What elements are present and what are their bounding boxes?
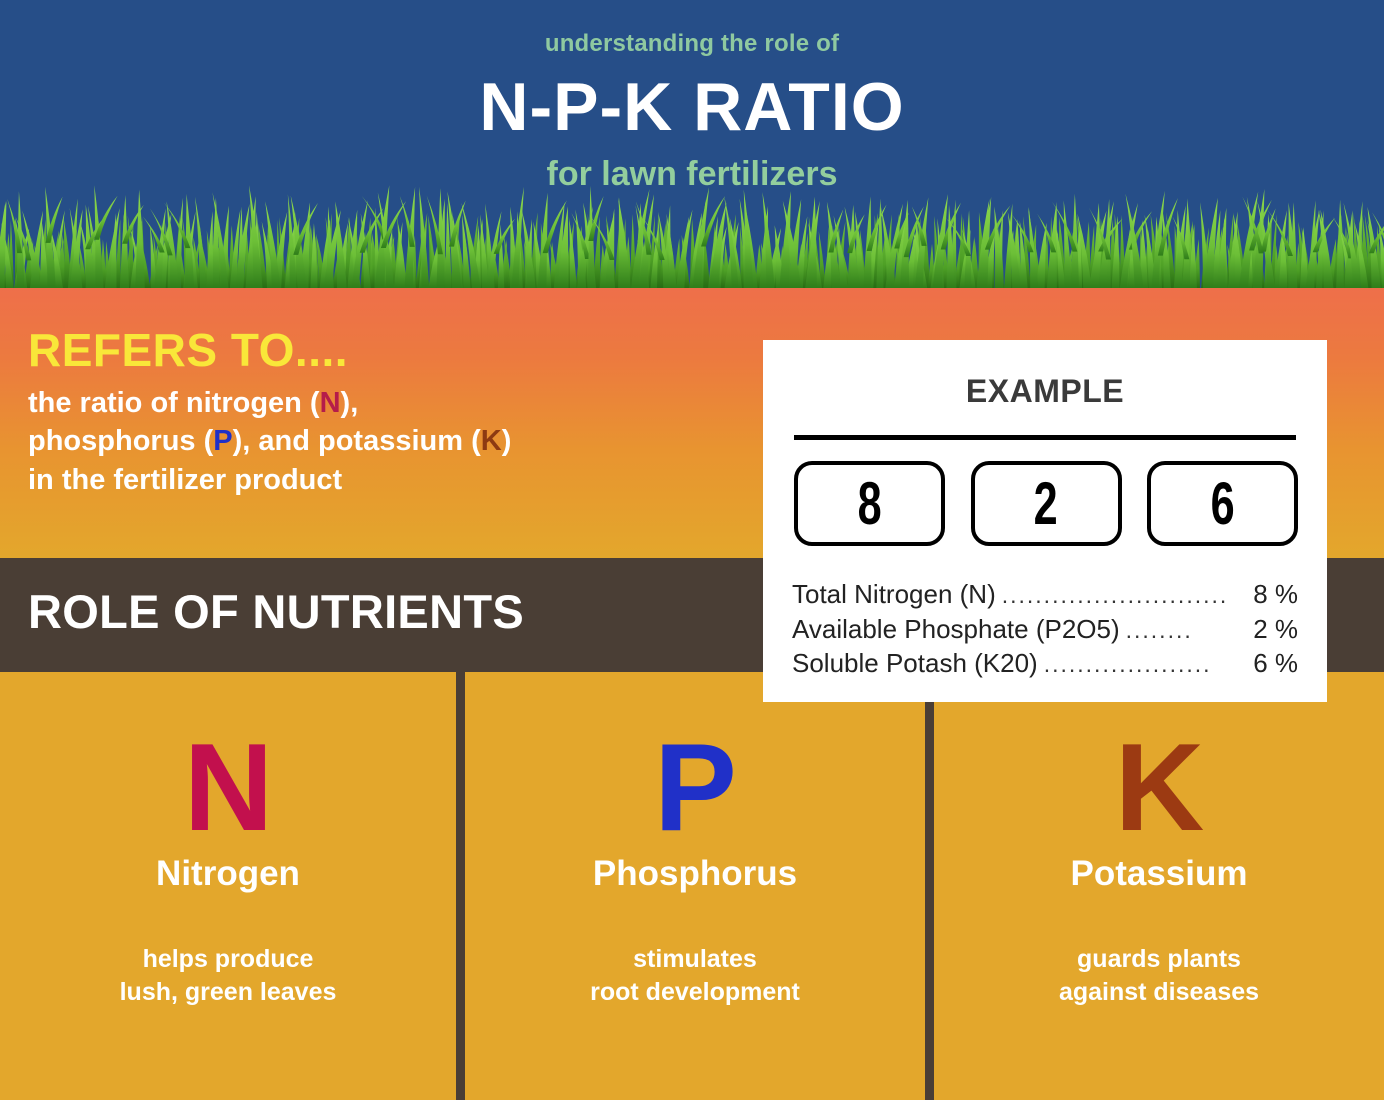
phosphorus-description-line-1: stimulates bbox=[465, 943, 925, 976]
example-row-phosphate: Available Phosphate (P2O5) ........ 2 % bbox=[792, 612, 1298, 647]
nutrient-columns: N Nitrogen helps produce lush, green lea… bbox=[0, 672, 1384, 1100]
refers-line-2-text-b: ), and potassium ( bbox=[233, 425, 481, 457]
header-sky-panel: understanding the role of N-P-K RATIO fo… bbox=[0, 0, 1384, 288]
potassium-letter: K bbox=[934, 726, 1384, 850]
refers-line-1: the ratio of nitrogen (N), bbox=[28, 384, 728, 422]
example-row-nitrogen-label: Total Nitrogen (N) bbox=[792, 577, 996, 612]
npk-number-box-n: 8 bbox=[794, 461, 945, 546]
refers-line-3: in the fertilizer product bbox=[28, 461, 728, 499]
phosphorus-name: Phosphorus bbox=[465, 856, 925, 891]
npk-number-boxes: 8 2 6 bbox=[794, 461, 1298, 546]
refers-line-2-text-c: ) bbox=[502, 425, 512, 457]
example-row-phosphate-dots: ........ bbox=[1126, 615, 1226, 646]
refers-line-1-text-b: ), bbox=[341, 387, 359, 419]
npk-number-p: 2 bbox=[1034, 474, 1058, 534]
npk-number-box-p: 2 bbox=[971, 461, 1122, 546]
nitrogen-description-line-2: lush, green leaves bbox=[0, 976, 456, 1009]
potassium-description: guards plants against diseases bbox=[934, 943, 1384, 1010]
example-row-nitrogen-value: 8 % bbox=[1232, 577, 1298, 612]
example-nutrient-list: Total Nitrogen (N) .....................… bbox=[792, 577, 1298, 681]
header-eyebrow: understanding the role of bbox=[0, 30, 1384, 58]
nitrogen-letter: N bbox=[0, 726, 456, 850]
npk-number-n: 8 bbox=[857, 474, 881, 534]
nutrient-column-nitrogen: N Nitrogen helps produce lush, green lea… bbox=[0, 672, 456, 1100]
example-card-title: EXAMPLE bbox=[763, 373, 1327, 410]
example-row-potash-label: Soluble Potash (K20) bbox=[792, 646, 1038, 681]
phosphorus-symbol-inline: P bbox=[213, 425, 232, 457]
example-row-potash-value: 6 % bbox=[1232, 646, 1298, 681]
refers-line-2: phosphorus (P), and potassium (K) bbox=[28, 422, 728, 460]
potassium-symbol-inline: K bbox=[481, 425, 502, 457]
example-row-nitrogen-dots: .............................. bbox=[1002, 580, 1226, 611]
npk-infographic: understanding the role of N-P-K RATIO fo… bbox=[0, 0, 1384, 1100]
example-row-potash-dots: .................... bbox=[1044, 649, 1226, 680]
refers-to-body: the ratio of nitrogen (N), phosphorus (P… bbox=[28, 384, 728, 499]
example-row-phosphate-value: 2 % bbox=[1232, 612, 1298, 647]
npk-number-k: 6 bbox=[1210, 474, 1234, 534]
column-divider-1 bbox=[456, 672, 465, 1100]
refers-line-2-text-a: phosphorus ( bbox=[28, 425, 213, 457]
example-card: EXAMPLE 8 2 6 Total Nitrogen (N) .......… bbox=[763, 340, 1327, 702]
potassium-description-line-2: against diseases bbox=[934, 976, 1384, 1009]
phosphorus-description-line-2: root development bbox=[465, 976, 925, 1009]
nitrogen-description: helps produce lush, green leaves bbox=[0, 943, 456, 1010]
phosphorus-letter: P bbox=[465, 726, 925, 850]
nutrient-column-potassium: K Potassium guards plants against diseas… bbox=[934, 672, 1384, 1100]
refers-line-1-text-a: the ratio of nitrogen ( bbox=[28, 387, 320, 419]
npk-number-box-k: 6 bbox=[1147, 461, 1298, 546]
example-row-phosphate-label: Available Phosphate (P2O5) bbox=[792, 612, 1120, 647]
grass-illustration bbox=[0, 183, 1384, 288]
nitrogen-name: Nitrogen bbox=[0, 856, 456, 891]
refers-to-heading: REFERS TO.... bbox=[28, 327, 348, 373]
nitrogen-symbol-inline: N bbox=[320, 387, 341, 419]
column-divider-2 bbox=[925, 672, 934, 1100]
example-row-potash: Soluble Potash (K20) ...................… bbox=[792, 646, 1298, 681]
role-of-nutrients-label: ROLE OF NUTRIENTS bbox=[28, 584, 524, 639]
nitrogen-description-line-1: helps produce bbox=[0, 943, 456, 976]
nutrient-column-phosphorus: P Phosphorus stimulates root development bbox=[465, 672, 925, 1100]
page-title: N-P-K RATIO bbox=[0, 73, 1384, 141]
potassium-description-line-1: guards plants bbox=[934, 943, 1384, 976]
example-card-divider bbox=[794, 435, 1296, 440]
example-row-nitrogen: Total Nitrogen (N) .....................… bbox=[792, 577, 1298, 612]
potassium-name: Potassium bbox=[934, 856, 1384, 891]
phosphorus-description: stimulates root development bbox=[465, 943, 925, 1010]
